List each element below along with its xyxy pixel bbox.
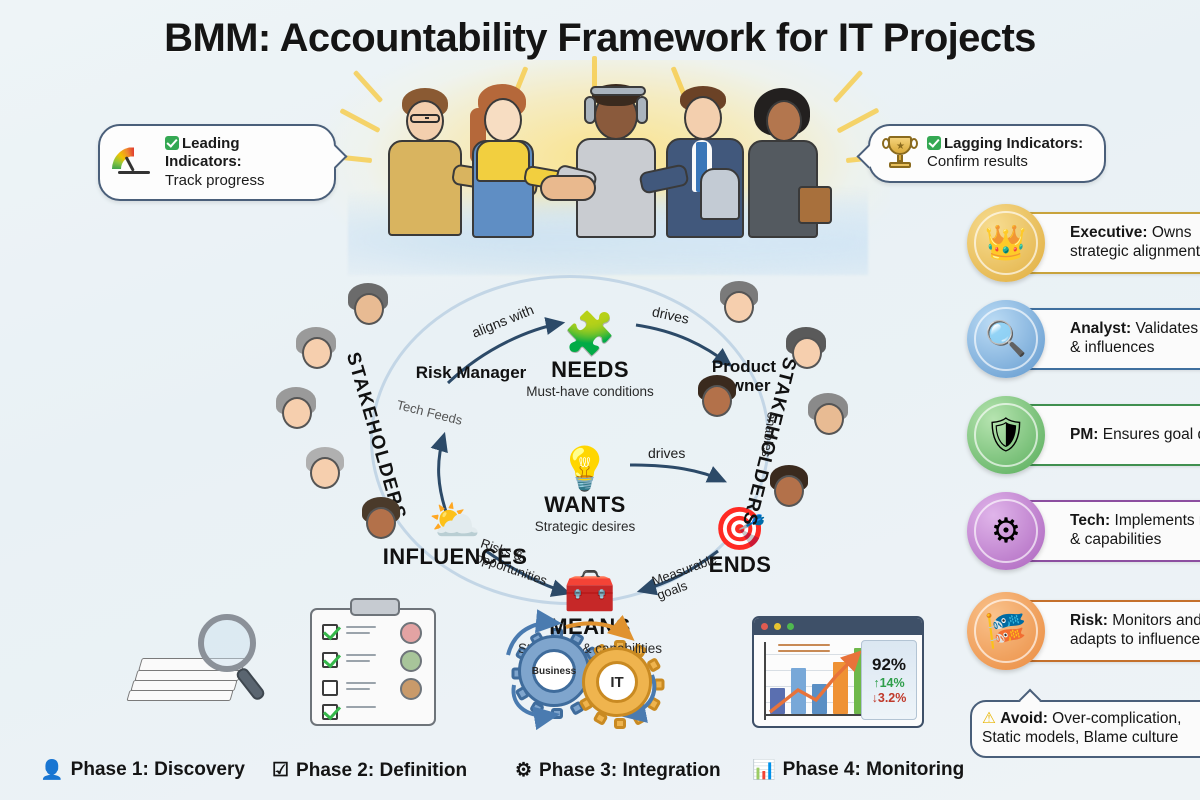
clipboard-clip-icon xyxy=(350,598,400,616)
phase-2-label-row[interactable]: ☑ Phase 2: Definition xyxy=(272,759,467,782)
gear-business-icon: Business xyxy=(518,635,590,707)
trophy-icon: ★ xyxy=(882,136,918,170)
role-card-pm-text: PM: Ensures goal delivery xyxy=(1070,426,1200,445)
phase-3-art: Business IT xyxy=(500,615,680,725)
hub-needs-sub: Must-have conditions xyxy=(500,384,680,399)
callout-lagging-text: Confirm results xyxy=(927,153,1028,170)
hub-needs: 🧩 NEEDS Must-have conditions xyxy=(500,313,680,399)
crown-badge-icon: 👑 xyxy=(967,204,1045,282)
avoid-title: Avoid: xyxy=(1000,710,1048,727)
callout-leading-text: Track progress xyxy=(165,172,264,189)
handshake-icon xyxy=(540,175,596,201)
gear-badge-icon: ⚙ xyxy=(967,492,1045,570)
callout-leading-indicators[interactable]: Leading Indicators: Track progress xyxy=(98,124,336,201)
callout-lagging-indicators[interactable]: ★ Lagging Indicators: Confirm results xyxy=(868,124,1106,183)
role-card-executive[interactable]: Executive: Owns strategic alignment xyxy=(1024,212,1200,274)
person-icon: 👤 xyxy=(40,758,64,782)
phase-2-art xyxy=(310,608,436,726)
phase-1-art xyxy=(120,612,270,722)
kpi-panel: 92% ↑14% ↓3.2% xyxy=(861,640,917,720)
gauge-icon xyxy=(112,147,156,177)
pinwheel-badge-icon: 🎏 xyxy=(967,592,1045,670)
page-title: BMM: Accountability Framework for IT Pro… xyxy=(0,16,1200,61)
phase-1-label: Phase 1: Discovery xyxy=(71,759,245,781)
role-card-executive-text: Executive: Owns strategic alignment xyxy=(1070,224,1200,261)
role-card-analyst[interactable]: Analyst: Validates needs & influences xyxy=(1024,308,1200,370)
gear-it-icon-2: IT xyxy=(582,647,652,717)
chart-icon: 📊 xyxy=(752,758,776,782)
bmm-wheel: 🧩 NEEDS Must-have conditions 💡 WANTS Str… xyxy=(300,265,860,625)
role-card-risk-text: Risk: Monitors and adapts to influences xyxy=(1070,612,1200,649)
role-card-risk[interactable]: Risk: Monitors and adapts to influences xyxy=(1024,600,1200,662)
role-card-pm[interactable]: PM: Ensures goal delivery xyxy=(1024,404,1200,466)
phase-3-label: Phase 3: Integration xyxy=(539,760,721,782)
phase-4-label: Phase 4: Monitoring xyxy=(783,759,965,781)
kpi-up-value: ↑14% xyxy=(873,676,904,690)
phase-2-label: Phase 2: Definition xyxy=(296,760,467,782)
phase-3-label-row[interactable]: ⚙ Phase 3: Integration xyxy=(515,759,721,782)
phase-1-label-row[interactable]: 👤 Phase 1: Discovery xyxy=(40,758,245,782)
check-icon xyxy=(927,136,941,150)
gear-icon: ⚙ xyxy=(515,759,532,782)
kpi-main-value: 92% xyxy=(872,655,906,675)
role-card-tech[interactable]: Tech: Implements means & capabilities xyxy=(1024,500,1200,562)
role-label-risk-manager: Risk Manager xyxy=(396,363,546,383)
phase-4-label-row[interactable]: 📊 Phase 4: Monitoring xyxy=(752,758,964,782)
magnifier-handle-icon xyxy=(234,666,266,702)
shield-badge-icon: 🛡 xyxy=(967,396,1045,474)
arrow-label-drives-mid: drives xyxy=(648,445,685,461)
checklist-icon: ☑ xyxy=(272,759,289,782)
role-card-tech-text: Tech: Implements means & capabilities xyxy=(1070,512,1200,549)
phase-4-art: 92% ↑14% ↓3.2% xyxy=(752,616,924,728)
check-icon xyxy=(165,136,179,150)
avoid-warning-box[interactable]: ⚠ Avoid: Over-complication, Static model… xyxy=(970,700,1200,758)
magnifier-badge-icon: 🔍 xyxy=(967,300,1045,378)
role-card-analyst-text: Analyst: Validates needs & influences xyxy=(1070,320,1200,357)
magnifier-icon xyxy=(198,614,256,672)
kpi-down-value: ↓3.2% xyxy=(872,691,907,705)
callout-lagging-label: Lagging Indicators: xyxy=(944,135,1083,152)
warning-icon: ⚠ xyxy=(982,710,996,727)
